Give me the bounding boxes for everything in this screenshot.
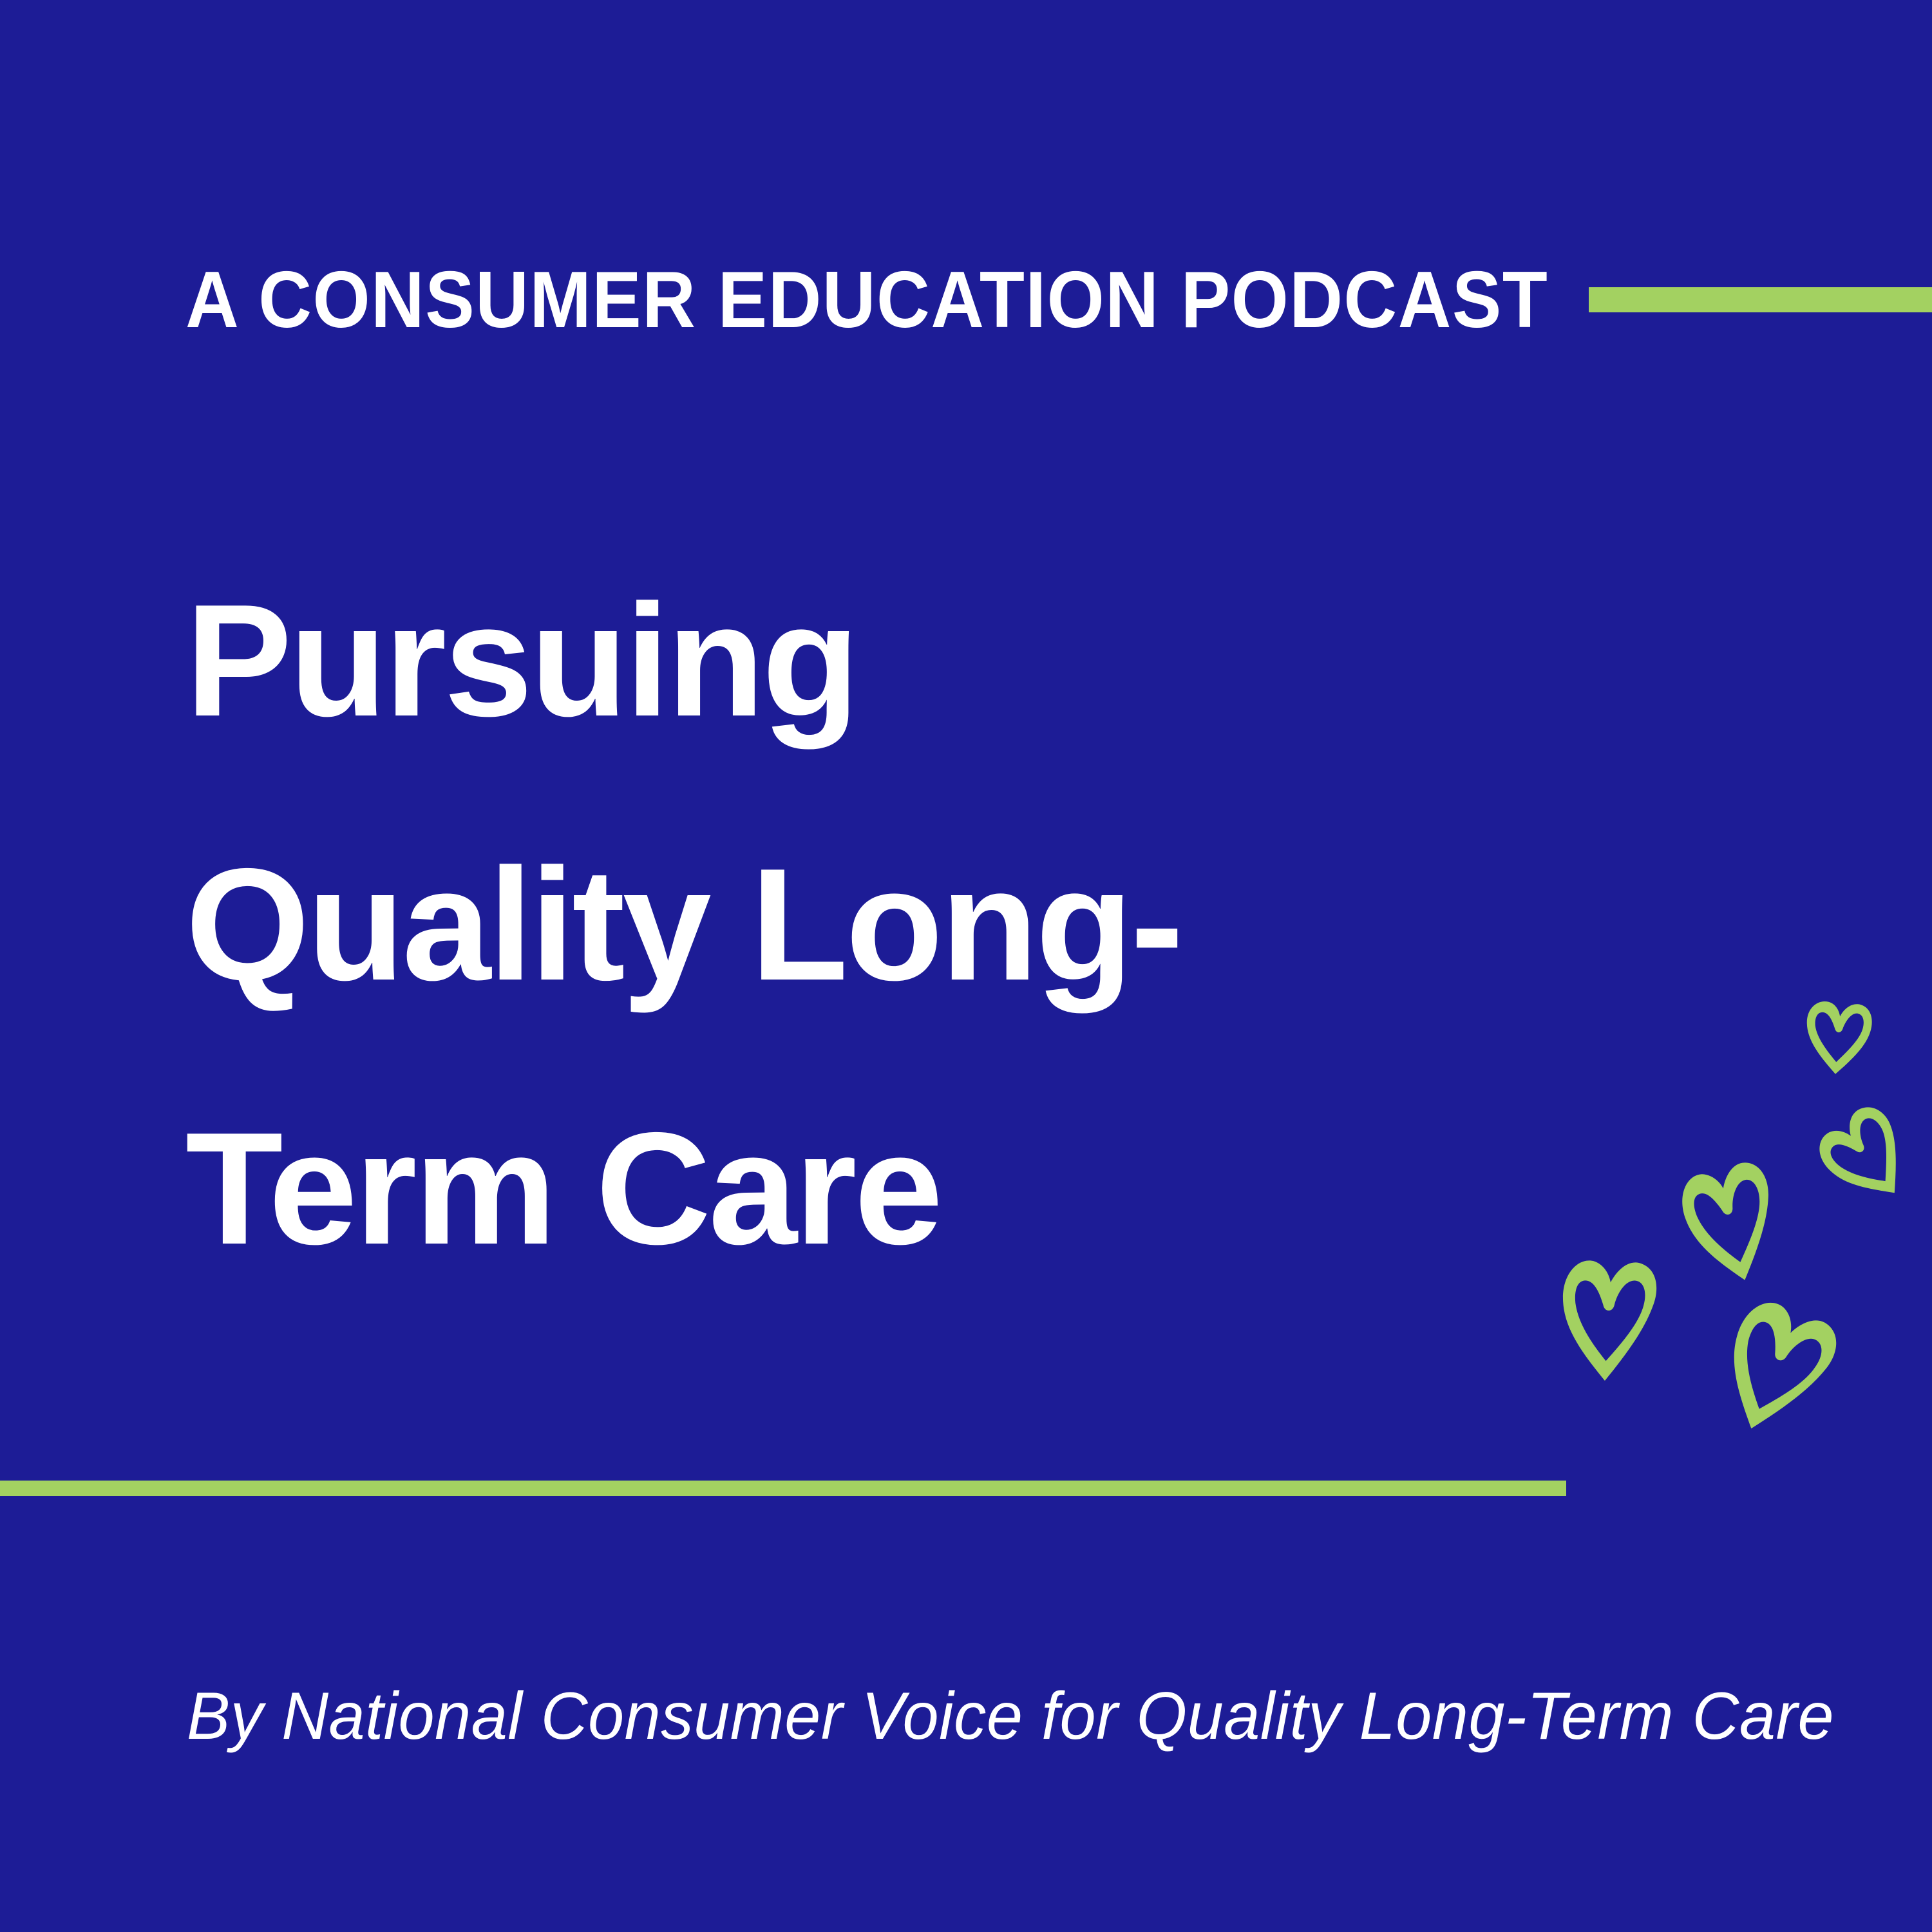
podcast-cover-art: A CONSUMER EDUCATION PODCAST Pursuing Qu… (0, 0, 1932, 1932)
title-line-3: Term Care (185, 1056, 1731, 1320)
title-line-2: Quality Long- (185, 792, 1731, 1056)
eyebrow-accent-rule (1589, 287, 1932, 312)
bottom-accent-rule (0, 1481, 1566, 1496)
page-title: Pursuing Quality Long- Term Care (185, 528, 1731, 1320)
byline-text: By National Consumer Voice for Quality L… (187, 1680, 1686, 1753)
eyebrow-row: A CONSUMER EDUCATION PODCAST (0, 255, 1932, 345)
title-line-1: Pursuing (185, 528, 1731, 792)
eyebrow-label: A CONSUMER EDUCATION PODCAST (185, 255, 1548, 345)
